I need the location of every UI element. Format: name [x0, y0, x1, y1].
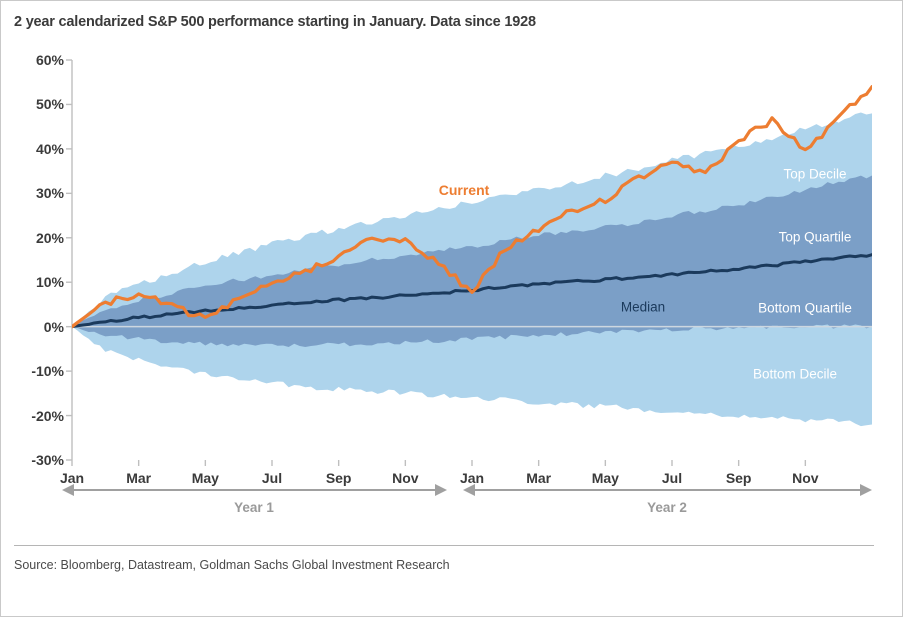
x-axis-tick-label: Mar	[526, 470, 551, 486]
year2-label: Year 2	[647, 500, 687, 515]
x-axis-tick-label: Jul	[262, 470, 282, 486]
band-label-bottom-quartile: Bottom Quartile	[758, 301, 852, 316]
y-axis-tick-label: -20%	[10, 408, 64, 424]
band-label-top-decile: Top Decile	[783, 167, 846, 182]
y-axis-tick-label: 20%	[10, 230, 64, 246]
x-axis-tick-label: Jan	[460, 470, 484, 486]
y-axis-ticks	[66, 60, 72, 460]
x-axis-tick-label: Jan	[60, 470, 84, 486]
y-axis-tick-label: 10%	[10, 274, 64, 290]
x-axis-tick-label: Jul	[662, 470, 682, 486]
y-axis-tick-label: 50%	[10, 96, 64, 112]
y-axis-tick-label: -10%	[10, 363, 64, 379]
source-divider	[14, 545, 874, 546]
x-axis-tick-label: May	[192, 470, 219, 486]
y-axis-tick-label: 40%	[10, 141, 64, 157]
x-axis-tick-label: Mar	[126, 470, 151, 486]
y-axis-tick-label: 30%	[10, 185, 64, 201]
x-axis-tick-label: Nov	[392, 470, 418, 486]
x-axis-tick-label: May	[592, 470, 619, 486]
source-text: Source: Bloomberg, Datastream, Goldman S…	[14, 558, 450, 572]
year1-label: Year 1	[234, 500, 274, 515]
y-axis-tick-label: -30%	[10, 452, 64, 468]
band-label-top-quartile: Top Quartile	[779, 230, 852, 245]
x-axis-tick-label: Sep	[326, 470, 352, 486]
x-axis-tick-label: Sep	[726, 470, 752, 486]
x-axis-tick-label: Nov	[792, 470, 818, 486]
x-axis-ticks	[72, 460, 805, 466]
band-label-median: Median	[621, 300, 665, 315]
y-axis-tick-label: 0%	[10, 319, 64, 335]
series-label-current: Current	[439, 182, 490, 198]
y-axis-tick-label: 60%	[10, 52, 64, 68]
band-label-bottom-decile: Bottom Decile	[753, 367, 837, 382]
